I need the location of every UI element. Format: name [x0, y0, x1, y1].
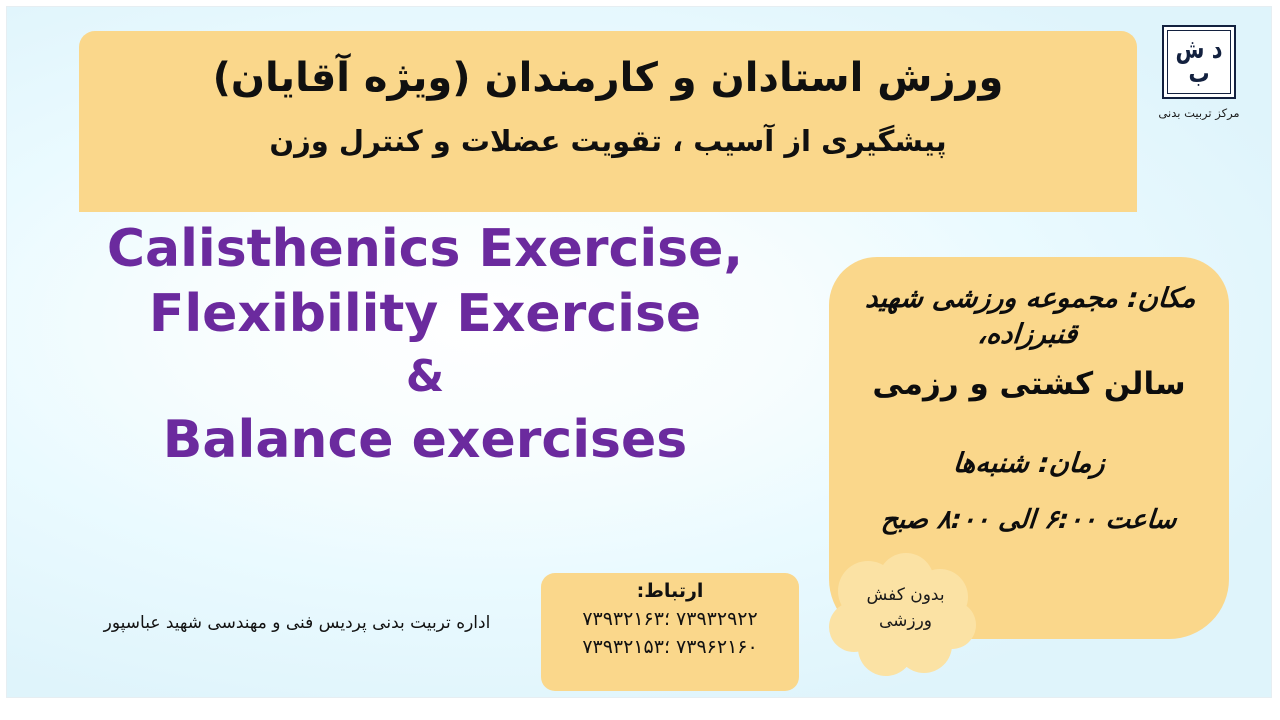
english-ampersand: & [25, 352, 825, 401]
contact-title: ارتباط: [541, 580, 799, 602]
english-line-1: Calisthenics Exercise, [25, 220, 825, 278]
university-logo: د ش ب مرکز تربیت بدنی [1141, 25, 1257, 120]
logo-caption: مرکز تربیت بدنی [1141, 106, 1257, 120]
logo-calligraphy: د ش ب [1164, 38, 1234, 86]
university-seal-icon: د ش ب [1162, 25, 1236, 99]
contact-box: ارتباط: ۷۳۹۳۲۹۲۲ ؛۷۳۹۳۲۱۶۳ ۷۳۹۶۲۱۶۰ ؛۷۳۹… [541, 573, 799, 691]
poster-slide: ورزش استادان و کارمندان (ویژه آقایان) پی… [0, 0, 1280, 720]
english-line-2: Flexibility Exercise [25, 285, 825, 343]
cloud-callout: بدون کفش ورزشی [828, 553, 983, 677]
footer-organization: اداره تربیت بدنی پردیس فنی و مهندسی شهید… [87, 613, 507, 633]
location-text: مکان: مجموعه ورزشی شهید قنبرزاده، [848, 281, 1210, 354]
english-program-block: Calisthenics Exercise, Flexibility Exerc… [25, 220, 825, 469]
title-banner: ورزش استادان و کارمندان (ویژه آقایان) پی… [79, 31, 1137, 212]
contact-phones-line-1: ۷۳۹۳۲۹۲۲ ؛۷۳۹۳۲۱۶۳ [541, 608, 799, 630]
schedule-hours: ساعت ۶:۰۰ الی ۸:۰۰ صبح [850, 505, 1209, 535]
cloud-line-1: بدون کفش [828, 583, 983, 609]
english-line-3: Balance exercises [25, 411, 825, 469]
schedule-days: زمان: شنبه‌ها [850, 448, 1209, 479]
poster-canvas: ورزش استادان و کارمندان (ویژه آقایان) پی… [6, 6, 1272, 698]
page-subtitle: پیشگیری از آسیب ، تقویت عضلات و کنترل وز… [79, 123, 1137, 161]
page-title: ورزش استادان و کارمندان (ویژه آقایان) [79, 53, 1137, 103]
cloud-callout-text: بدون کفش ورزشی [828, 583, 983, 634]
contact-phones-line-2: ۷۳۹۶۲۱۶۰ ؛۷۳۹۳۲۱۵۳ [541, 636, 799, 658]
hall-name: سالن کشتی و رزمی [851, 366, 1207, 402]
cloud-line-2: ورزشی [828, 609, 983, 635]
